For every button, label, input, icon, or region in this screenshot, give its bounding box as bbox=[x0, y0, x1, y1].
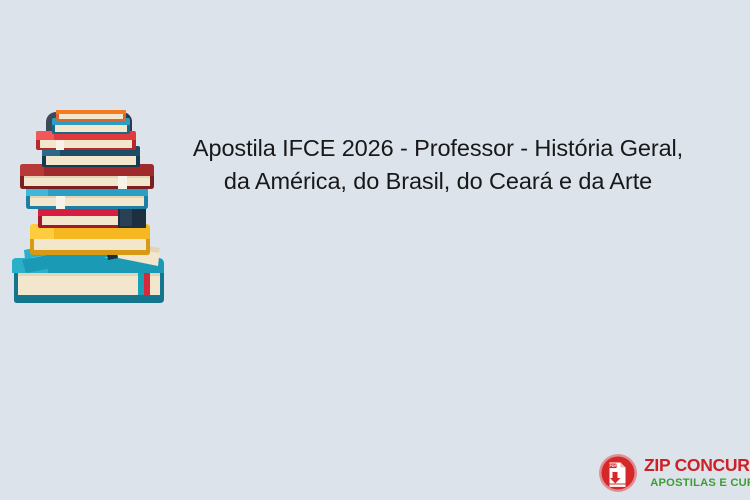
brand-tagline: APOSTILAS E CURSOS bbox=[644, 478, 750, 489]
brand-name: ZIP CONCURSOS bbox=[644, 457, 750, 475]
book-orange-top-graphic bbox=[56, 110, 126, 121]
stack-of-books-illustration bbox=[8, 110, 173, 315]
brand-wordmark: ZIP CONCURSOS APOSTILAS E CURSOS bbox=[644, 457, 750, 489]
product-card: Apostila IFCE 2026 - Professor - Históri… bbox=[0, 0, 750, 500]
book-yellow-graphic bbox=[30, 224, 150, 255]
page-title: Apostila IFCE 2026 - Professor - Históri… bbox=[173, 132, 703, 198]
brand-logo[interactable]: PDF ZIP CONCURSOS APOSTILAS E CURSOS bbox=[598, 451, 746, 495]
svg-text:PDF: PDF bbox=[610, 464, 618, 468]
product-title-block: Apostila IFCE 2026 - Professor - Históri… bbox=[173, 132, 703, 198]
pdf-download-icon: PDF bbox=[598, 453, 638, 493]
book-darkred-graphic bbox=[20, 164, 154, 189]
